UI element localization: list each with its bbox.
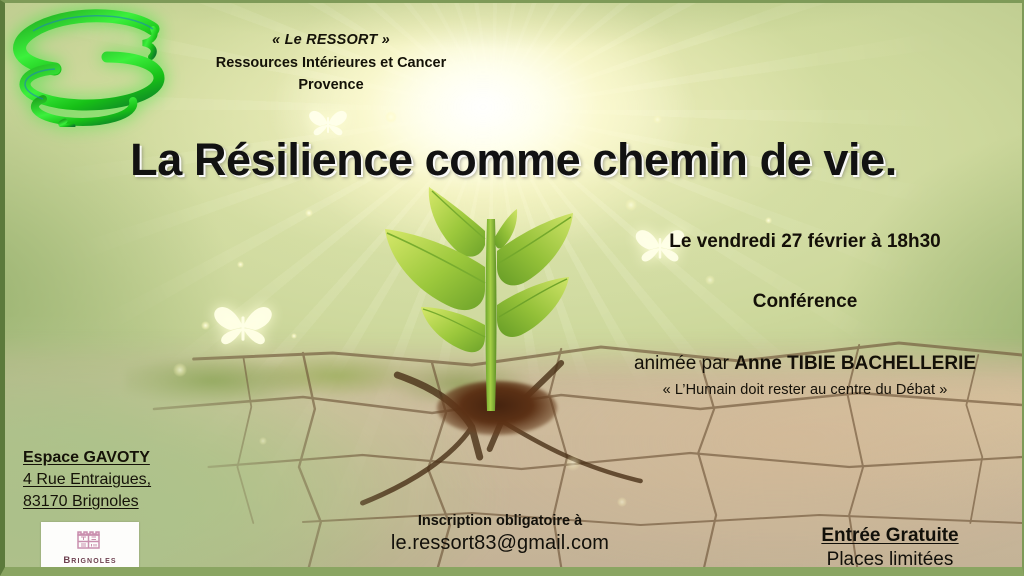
venue-city: 83170 Brignoles (23, 491, 151, 513)
event-quote: « L’Humain doit rester au centre du Déba… (605, 382, 1005, 398)
signup-label: Inscription obligatoire à (335, 513, 665, 529)
admission-info: Entrée Gratuite Places limitées (765, 525, 1015, 571)
event-details: Le vendredi 27 février à 18h30 Conférenc… (605, 231, 1005, 398)
presenter-prefix: animée par (634, 353, 734, 374)
presenter-name: Anne TIBIE BACHELLERIE (734, 353, 976, 374)
event-poster: « Le RESSORT » Ressources Intérieures et… (0, 0, 1024, 576)
venue-name: Espace GAVOTY (23, 447, 151, 469)
event-presenter: animée par Anne TIBIE BACHELLERIE (605, 353, 1005, 375)
brignoles-city-logo: Brignoles (41, 522, 139, 572)
page-title: La Résilience comme chemin de vie. (5, 134, 1022, 186)
event-type: Conférence (605, 291, 1005, 313)
association-subtitle: Ressources Intérieures et Cancer (201, 54, 461, 73)
event-date: Le vendredi 27 février à 18h30 (605, 231, 1005, 253)
admission-price: Entrée Gratuite (765, 525, 1015, 547)
brignoles-crest-icon (70, 528, 110, 553)
venue-street: 4 Rue Entraigues, (23, 469, 151, 491)
association-region: Provence (201, 76, 461, 95)
signup-info: Inscription obligatoire à le.ressort83@g… (335, 513, 665, 555)
brignoles-label: Brignoles (63, 555, 116, 566)
association-name: « Le RESSORT » (201, 31, 461, 50)
admission-capacity: Places limitées (765, 549, 1015, 571)
venue-address: Espace GAVOTY 4 Rue Entraigues, 83170 Br… (23, 447, 151, 513)
signup-email[interactable]: le.ressort83@gmail.com (335, 532, 665, 555)
ressort-spiral-logo-icon (7, 5, 183, 127)
association-header: « Le RESSORT » Ressources Intérieures et… (201, 31, 461, 95)
